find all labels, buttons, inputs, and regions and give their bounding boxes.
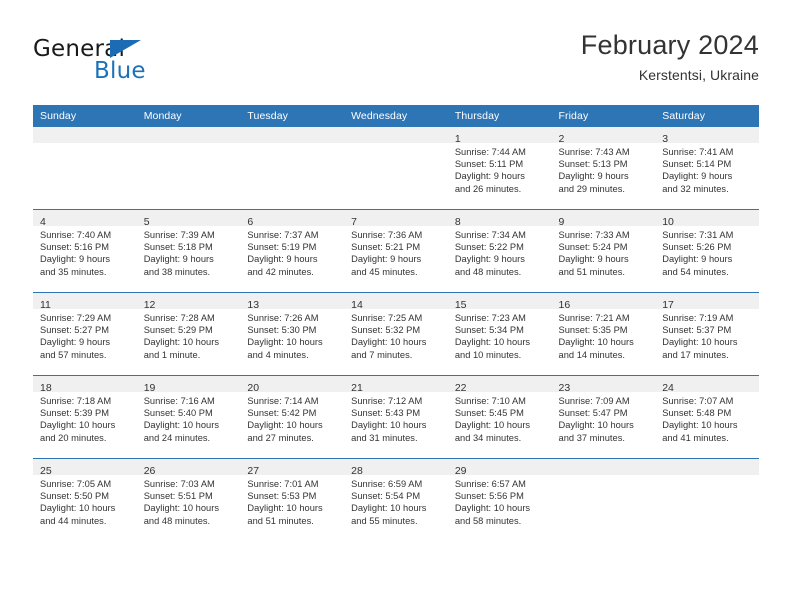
sunset-text: Sunset: 5:27 PM [40, 324, 133, 336]
daylight-text-line2: and 44 minutes. [40, 515, 133, 527]
day-sun-info: Sunrise: 7:31 AMSunset: 5:26 PMDaylight:… [655, 226, 759, 278]
day-box: 23Sunrise: 7:09 AMSunset: 5:47 PMDayligh… [552, 376, 656, 458]
day-number: 22 [455, 382, 467, 394]
sunset-text: Sunset: 5:26 PM [662, 241, 755, 253]
calendar-day-cell[interactable]: 16Sunrise: 7:21 AMSunset: 5:35 PMDayligh… [552, 293, 656, 376]
calendar-day-cell[interactable]: 9Sunrise: 7:33 AMSunset: 5:24 PMDaylight… [552, 210, 656, 293]
sunset-text: Sunset: 5:40 PM [144, 407, 237, 419]
sunrise-text: Sunrise: 6:59 AM [351, 478, 444, 490]
daylight-text-line2: and 41 minutes. [662, 432, 755, 444]
day-number: 10 [662, 216, 674, 228]
sunrise-text: Sunrise: 7:28 AM [144, 312, 237, 324]
sunset-text: Sunset: 5:18 PM [144, 241, 237, 253]
day-box: 10Sunrise: 7:31 AMSunset: 5:26 PMDayligh… [655, 210, 759, 292]
sunrise-text: Sunrise: 7:43 AM [559, 146, 652, 158]
day-box: 4Sunrise: 7:40 AMSunset: 5:16 PMDaylight… [33, 210, 137, 292]
sunset-text: Sunset: 5:37 PM [662, 324, 755, 336]
sunset-text: Sunset: 5:53 PM [247, 490, 340, 502]
sunset-text: Sunset: 5:21 PM [351, 241, 444, 253]
sunset-text: Sunset: 5:16 PM [40, 241, 133, 253]
calendar-day-cell-empty [552, 459, 656, 542]
sunrise-text: Sunrise: 7:23 AM [455, 312, 548, 324]
day-number-band [552, 459, 656, 475]
day-number-band: 29 [448, 459, 552, 475]
sunrise-text: Sunrise: 7:33 AM [559, 229, 652, 241]
weekday-header-thursday: Thursday [448, 105, 552, 127]
day-box: 1Sunrise: 7:44 AMSunset: 5:11 PMDaylight… [448, 127, 552, 209]
daylight-text-line1: Daylight: 9 hours [662, 170, 755, 182]
sunrise-text: Sunrise: 6:57 AM [455, 478, 548, 490]
day-number-band [344, 127, 448, 143]
sunrise-text: Sunrise: 7:03 AM [144, 478, 237, 490]
sunrise-text: Sunrise: 7:18 AM [40, 395, 133, 407]
calendar-day-cell[interactable]: 28Sunrise: 6:59 AMSunset: 5:54 PMDayligh… [344, 459, 448, 542]
daylight-text-line1: Daylight: 10 hours [40, 419, 133, 431]
day-box: 29Sunrise: 6:57 AMSunset: 5:56 PMDayligh… [448, 459, 552, 541]
day-sun-info: Sunrise: 7:21 AMSunset: 5:35 PMDaylight:… [552, 309, 656, 361]
sunrise-text: Sunrise: 7:44 AM [455, 146, 548, 158]
daylight-text-line2: and 10 minutes. [455, 349, 548, 361]
daylight-text-line2: and 48 minutes. [455, 266, 548, 278]
weekday-header-saturday: Saturday [655, 105, 759, 127]
sunset-text: Sunset: 5:50 PM [40, 490, 133, 502]
day-sun-info: Sunrise: 7:43 AMSunset: 5:13 PMDaylight:… [552, 143, 656, 195]
daylight-text-line1: Daylight: 9 hours [351, 253, 444, 265]
day-box [655, 459, 759, 541]
calendar-table: SundayMondayTuesdayWednesdayThursdayFrid… [33, 105, 759, 541]
day-number-band: 25 [33, 459, 137, 475]
daylight-text-line1: Daylight: 10 hours [662, 336, 755, 348]
daylight-text-line1: Daylight: 9 hours [559, 253, 652, 265]
page-header: General Blue February 2024 Kerstentsi, U… [33, 28, 759, 94]
daylight-text-line1: Daylight: 10 hours [144, 336, 237, 348]
day-box: 27Sunrise: 7:01 AMSunset: 5:53 PMDayligh… [240, 459, 344, 541]
day-number: 19 [144, 382, 156, 394]
day-sun-info: Sunrise: 7:36 AMSunset: 5:21 PMDaylight:… [344, 226, 448, 278]
calendar-week-row: 4Sunrise: 7:40 AMSunset: 5:16 PMDaylight… [33, 210, 759, 293]
calendar-day-cell-empty [240, 127, 344, 210]
day-number-band [137, 127, 241, 143]
sunset-text: Sunset: 5:48 PM [662, 407, 755, 419]
day-number-band: 7 [344, 210, 448, 226]
day-box: 3Sunrise: 7:41 AMSunset: 5:14 PMDaylight… [655, 127, 759, 209]
daylight-text-line1: Daylight: 10 hours [144, 502, 237, 514]
daylight-text-line1: Daylight: 9 hours [40, 253, 133, 265]
page-title: February 2024 [581, 28, 759, 62]
day-number-band: 10 [655, 210, 759, 226]
day-number: 13 [247, 299, 259, 311]
sunset-text: Sunset: 5:47 PM [559, 407, 652, 419]
day-box: 6Sunrise: 7:37 AMSunset: 5:19 PMDaylight… [240, 210, 344, 292]
day-number: 18 [40, 382, 52, 394]
day-box [344, 127, 448, 209]
day-number-band: 14 [344, 293, 448, 309]
sunset-text: Sunset: 5:14 PM [662, 158, 755, 170]
calendar-page: General Blue February 2024 Kerstentsi, U… [0, 0, 792, 612]
calendar-day-cell[interactable]: 4Sunrise: 7:40 AMSunset: 5:16 PMDaylight… [33, 210, 137, 293]
day-sun-info: Sunrise: 7:18 AMSunset: 5:39 PMDaylight:… [33, 392, 137, 444]
daylight-text-line2: and 26 minutes. [455, 183, 548, 195]
day-number: 26 [144, 465, 156, 477]
day-number-band [240, 127, 344, 143]
daylight-text-line1: Daylight: 10 hours [144, 419, 237, 431]
day-number-band [33, 127, 137, 143]
day-sun-info: Sunrise: 6:57 AMSunset: 5:56 PMDaylight:… [448, 475, 552, 527]
calendar-day-cell[interactable]: 26Sunrise: 7:03 AMSunset: 5:51 PMDayligh… [137, 459, 241, 542]
daylight-text-line2: and 35 minutes. [40, 266, 133, 278]
calendar-day-cell[interactable]: 2Sunrise: 7:43 AMSunset: 5:13 PMDaylight… [552, 127, 656, 210]
day-number-band: 15 [448, 293, 552, 309]
day-sun-info: Sunrise: 7:39 AMSunset: 5:18 PMDaylight:… [137, 226, 241, 278]
day-sun-info: Sunrise: 7:12 AMSunset: 5:43 PMDaylight:… [344, 392, 448, 444]
sunset-text: Sunset: 5:19 PM [247, 241, 340, 253]
day-box: 8Sunrise: 7:34 AMSunset: 5:22 PMDaylight… [448, 210, 552, 292]
calendar-day-cell[interactable]: 27Sunrise: 7:01 AMSunset: 5:53 PMDayligh… [240, 459, 344, 542]
daylight-text-line1: Daylight: 10 hours [455, 336, 548, 348]
calendar-day-cell[interactable]: 5Sunrise: 7:39 AMSunset: 5:18 PMDaylight… [137, 210, 241, 293]
day-number: 14 [351, 299, 363, 311]
calendar-day-cell-empty [344, 127, 448, 210]
day-number: 2 [559, 133, 565, 145]
calendar-day-cell[interactable]: 13Sunrise: 7:26 AMSunset: 5:30 PMDayligh… [240, 293, 344, 376]
day-number: 8 [455, 216, 461, 228]
calendar-day-cell[interactable]: 17Sunrise: 7:19 AMSunset: 5:37 PMDayligh… [655, 293, 759, 376]
calendar-day-cell[interactable]: 11Sunrise: 7:29 AMSunset: 5:27 PMDayligh… [33, 293, 137, 376]
sunset-text: Sunset: 5:24 PM [559, 241, 652, 253]
day-sun-info: Sunrise: 6:59 AMSunset: 5:54 PMDaylight:… [344, 475, 448, 527]
day-sun-info: Sunrise: 7:44 AMSunset: 5:11 PMDaylight:… [448, 143, 552, 195]
calendar-day-cell-empty [655, 459, 759, 542]
day-number-band [655, 459, 759, 475]
sunset-text: Sunset: 5:32 PM [351, 324, 444, 336]
sunrise-text: Sunrise: 7:21 AM [559, 312, 652, 324]
calendar-day-cell[interactable]: 18Sunrise: 7:18 AMSunset: 5:39 PMDayligh… [33, 376, 137, 459]
daylight-text-line1: Daylight: 9 hours [559, 170, 652, 182]
calendar-week-row: 25Sunrise: 7:05 AMSunset: 5:50 PMDayligh… [33, 459, 759, 542]
sunrise-text: Sunrise: 7:31 AM [662, 229, 755, 241]
calendar-day-cell[interactable]: 25Sunrise: 7:05 AMSunset: 5:50 PMDayligh… [33, 459, 137, 542]
daylight-text-line2: and 27 minutes. [247, 432, 340, 444]
calendar-day-cell[interactable]: 21Sunrise: 7:12 AMSunset: 5:43 PMDayligh… [344, 376, 448, 459]
day-box: 12Sunrise: 7:28 AMSunset: 5:29 PMDayligh… [137, 293, 241, 375]
calendar-day-cell-empty [33, 127, 137, 210]
daylight-text-line1: Daylight: 9 hours [247, 253, 340, 265]
sunset-text: Sunset: 5:43 PM [351, 407, 444, 419]
day-number-band: 18 [33, 376, 137, 392]
daylight-text-line1: Daylight: 10 hours [247, 502, 340, 514]
sunset-text: Sunset: 5:54 PM [351, 490, 444, 502]
calendar-day-cell[interactable]: 29Sunrise: 6:57 AMSunset: 5:56 PMDayligh… [448, 459, 552, 542]
day-box: 14Sunrise: 7:25 AMSunset: 5:32 PMDayligh… [344, 293, 448, 375]
day-number-band: 20 [240, 376, 344, 392]
day-number-band: 2 [552, 127, 656, 143]
day-sun-info: Sunrise: 7:09 AMSunset: 5:47 PMDaylight:… [552, 392, 656, 444]
daylight-text-line1: Daylight: 10 hours [351, 502, 444, 514]
daylight-text-line2: and 48 minutes. [144, 515, 237, 527]
sunset-text: Sunset: 5:11 PM [455, 158, 548, 170]
day-sun-info: Sunrise: 7:19 AMSunset: 5:37 PMDaylight:… [655, 309, 759, 361]
day-box: 15Sunrise: 7:23 AMSunset: 5:34 PMDayligh… [448, 293, 552, 375]
day-box: 13Sunrise: 7:26 AMSunset: 5:30 PMDayligh… [240, 293, 344, 375]
day-number-band: 4 [33, 210, 137, 226]
sunset-text: Sunset: 5:22 PM [455, 241, 548, 253]
daylight-text-line1: Daylight: 10 hours [559, 336, 652, 348]
day-box [137, 127, 241, 209]
sunrise-text: Sunrise: 7:05 AM [40, 478, 133, 490]
calendar-day-cell[interactable]: 22Sunrise: 7:10 AMSunset: 5:45 PMDayligh… [448, 376, 552, 459]
day-box: 18Sunrise: 7:18 AMSunset: 5:39 PMDayligh… [33, 376, 137, 458]
day-sun-info: Sunrise: 7:07 AMSunset: 5:48 PMDaylight:… [655, 392, 759, 444]
day-sun-info: Sunrise: 7:14 AMSunset: 5:42 PMDaylight:… [240, 392, 344, 444]
sunrise-text: Sunrise: 7:01 AM [247, 478, 340, 490]
calendar-day-cell[interactable]: 19Sunrise: 7:16 AMSunset: 5:40 PMDayligh… [137, 376, 241, 459]
title-block: February 2024 Kerstentsi, Ukraine [581, 28, 759, 86]
day-number: 1 [455, 133, 461, 145]
day-box: 16Sunrise: 7:21 AMSunset: 5:35 PMDayligh… [552, 293, 656, 375]
day-sun-info: Sunrise: 7:16 AMSunset: 5:40 PMDaylight:… [137, 392, 241, 444]
day-box: 11Sunrise: 7:29 AMSunset: 5:27 PMDayligh… [33, 293, 137, 375]
sunset-text: Sunset: 5:34 PM [455, 324, 548, 336]
day-sun-info: Sunrise: 7:34 AMSunset: 5:22 PMDaylight:… [448, 226, 552, 278]
daylight-text-line2: and 58 minutes. [455, 515, 548, 527]
weekday-header-sunday: Sunday [33, 105, 137, 127]
calendar-day-cell[interactable]: 3Sunrise: 7:41 AMSunset: 5:14 PMDaylight… [655, 127, 759, 210]
day-number-band: 23 [552, 376, 656, 392]
day-number-band: 8 [448, 210, 552, 226]
calendar-day-cell[interactable]: 6Sunrise: 7:37 AMSunset: 5:19 PMDaylight… [240, 210, 344, 293]
daylight-text-line1: Daylight: 10 hours [351, 419, 444, 431]
day-box [33, 127, 137, 209]
day-box: 2Sunrise: 7:43 AMSunset: 5:13 PMDaylight… [552, 127, 656, 209]
daylight-text-line2: and 32 minutes. [662, 183, 755, 195]
day-number-band: 16 [552, 293, 656, 309]
sunrise-text: Sunrise: 7:40 AM [40, 229, 133, 241]
daylight-text-line2: and 38 minutes. [144, 266, 237, 278]
day-box [552, 459, 656, 541]
sunrise-text: Sunrise: 7:09 AM [559, 395, 652, 407]
page-subtitle-location: Kerstentsi, Ukraine [581, 64, 759, 86]
daylight-text-line2: and 17 minutes. [662, 349, 755, 361]
day-number: 24 [662, 382, 674, 394]
day-number: 11 [40, 299, 51, 311]
day-number-band: 6 [240, 210, 344, 226]
sunrise-text: Sunrise: 7:37 AM [247, 229, 340, 241]
logo-text-blue: Blue [94, 58, 146, 84]
daylight-text-line1: Daylight: 9 hours [40, 336, 133, 348]
day-number-band: 26 [137, 459, 241, 475]
daylight-text-line2: and 51 minutes. [559, 266, 652, 278]
daylight-text-line1: Daylight: 9 hours [662, 253, 755, 265]
day-number-band: 17 [655, 293, 759, 309]
weekday-header-wednesday: Wednesday [344, 105, 448, 127]
daylight-text-line1: Daylight: 9 hours [144, 253, 237, 265]
calendar-day-cell[interactable]: 1Sunrise: 7:44 AMSunset: 5:11 PMDaylight… [448, 127, 552, 210]
calendar-day-cell[interactable]: 10Sunrise: 7:31 AMSunset: 5:26 PMDayligh… [655, 210, 759, 293]
day-box: 21Sunrise: 7:12 AMSunset: 5:43 PMDayligh… [344, 376, 448, 458]
daylight-text-line1: Daylight: 10 hours [247, 336, 340, 348]
sunrise-text: Sunrise: 7:41 AM [662, 146, 755, 158]
sunrise-text: Sunrise: 7:26 AM [247, 312, 340, 324]
day-number-band: 3 [655, 127, 759, 143]
daylight-text-line1: Daylight: 10 hours [455, 502, 548, 514]
day-number-band: 1 [448, 127, 552, 143]
calendar-day-cell[interactable]: 14Sunrise: 7:25 AMSunset: 5:32 PMDayligh… [344, 293, 448, 376]
sunset-text: Sunset: 5:39 PM [40, 407, 133, 419]
day-number-band: 24 [655, 376, 759, 392]
sunset-text: Sunset: 5:51 PM [144, 490, 237, 502]
day-number-band: 22 [448, 376, 552, 392]
day-sun-info: Sunrise: 7:29 AMSunset: 5:27 PMDaylight:… [33, 309, 137, 361]
sunrise-text: Sunrise: 7:19 AM [662, 312, 755, 324]
day-number: 5 [144, 216, 150, 228]
day-number-band: 21 [344, 376, 448, 392]
day-number: 6 [247, 216, 253, 228]
daylight-text-line2: and 14 minutes. [559, 349, 652, 361]
day-number-band: 12 [137, 293, 241, 309]
day-sun-info: Sunrise: 7:05 AMSunset: 5:50 PMDaylight:… [33, 475, 137, 527]
daylight-text-line2: and 57 minutes. [40, 349, 133, 361]
day-sun-info: Sunrise: 7:41 AMSunset: 5:14 PMDaylight:… [655, 143, 759, 195]
day-number: 27 [247, 465, 259, 477]
day-box: 9Sunrise: 7:33 AMSunset: 5:24 PMDaylight… [552, 210, 656, 292]
daylight-text-line1: Daylight: 10 hours [351, 336, 444, 348]
day-number: 9 [559, 216, 565, 228]
sunrise-text: Sunrise: 7:36 AM [351, 229, 444, 241]
weekday-header-monday: Monday [137, 105, 241, 127]
day-sun-info: Sunrise: 7:28 AMSunset: 5:29 PMDaylight:… [137, 309, 241, 361]
day-number: 28 [351, 465, 363, 477]
day-number-band: 13 [240, 293, 344, 309]
calendar-week-row: 1Sunrise: 7:44 AMSunset: 5:11 PMDaylight… [33, 127, 759, 210]
daylight-text-line2: and 37 minutes. [559, 432, 652, 444]
day-sun-info: Sunrise: 7:01 AMSunset: 5:53 PMDaylight:… [240, 475, 344, 527]
day-box: 22Sunrise: 7:10 AMSunset: 5:45 PMDayligh… [448, 376, 552, 458]
day-sun-info: Sunrise: 7:25 AMSunset: 5:32 PMDaylight:… [344, 309, 448, 361]
sunset-text: Sunset: 5:35 PM [559, 324, 652, 336]
sunset-text: Sunset: 5:56 PM [455, 490, 548, 502]
day-box: 7Sunrise: 7:36 AMSunset: 5:21 PMDaylight… [344, 210, 448, 292]
calendar-week-row: 18Sunrise: 7:18 AMSunset: 5:39 PMDayligh… [33, 376, 759, 459]
weekday-header-tuesday: Tuesday [240, 105, 344, 127]
sunrise-text: Sunrise: 7:07 AM [662, 395, 755, 407]
day-number: 21 [351, 382, 363, 394]
sunset-text: Sunset: 5:29 PM [144, 324, 237, 336]
day-number-band: 9 [552, 210, 656, 226]
daylight-text-line2: and 51 minutes. [247, 515, 340, 527]
calendar-day-cell[interactable]: 23Sunrise: 7:09 AMSunset: 5:47 PMDayligh… [552, 376, 656, 459]
calendar-week-row: 11Sunrise: 7:29 AMSunset: 5:27 PMDayligh… [33, 293, 759, 376]
calendar-day-cell[interactable]: 12Sunrise: 7:28 AMSunset: 5:29 PMDayligh… [137, 293, 241, 376]
sunset-text: Sunset: 5:30 PM [247, 324, 340, 336]
calendar-day-cell[interactable]: 7Sunrise: 7:36 AMSunset: 5:21 PMDaylight… [344, 210, 448, 293]
daylight-text-line2: and 20 minutes. [40, 432, 133, 444]
weekday-header-friday: Friday [552, 105, 656, 127]
daylight-text-line2: and 24 minutes. [144, 432, 237, 444]
day-sun-info: Sunrise: 7:37 AMSunset: 5:19 PMDaylight:… [240, 226, 344, 278]
day-box: 28Sunrise: 6:59 AMSunset: 5:54 PMDayligh… [344, 459, 448, 541]
daylight-text-line1: Daylight: 10 hours [662, 419, 755, 431]
calendar-day-cell[interactable]: 20Sunrise: 7:14 AMSunset: 5:42 PMDayligh… [240, 376, 344, 459]
daylight-text-line2: and 34 minutes. [455, 432, 548, 444]
day-number: 20 [247, 382, 259, 394]
day-sun-info: Sunrise: 7:03 AMSunset: 5:51 PMDaylight:… [137, 475, 241, 527]
calendar-day-cell[interactable]: 24Sunrise: 7:07 AMSunset: 5:48 PMDayligh… [655, 376, 759, 459]
day-number: 12 [144, 299, 156, 311]
sunset-text: Sunset: 5:13 PM [559, 158, 652, 170]
calendar-day-cell-empty [137, 127, 241, 210]
daylight-text-line2: and 54 minutes. [662, 266, 755, 278]
sunrise-text: Sunrise: 7:10 AM [455, 395, 548, 407]
day-box: 19Sunrise: 7:16 AMSunset: 5:40 PMDayligh… [137, 376, 241, 458]
day-number: 16 [559, 299, 571, 311]
calendar-day-cell[interactable]: 8Sunrise: 7:34 AMSunset: 5:22 PMDaylight… [448, 210, 552, 293]
day-number: 17 [662, 299, 674, 311]
sunrise-text: Sunrise: 7:34 AM [455, 229, 548, 241]
daylight-text-line2: and 45 minutes. [351, 266, 444, 278]
day-number: 29 [455, 465, 467, 477]
day-number: 15 [455, 299, 467, 311]
day-number-band: 27 [240, 459, 344, 475]
day-number: 25 [40, 465, 52, 477]
daylight-text-line2: and 55 minutes. [351, 515, 444, 527]
daylight-text-line1: Daylight: 10 hours [455, 419, 548, 431]
day-sun-info: Sunrise: 7:40 AMSunset: 5:16 PMDaylight:… [33, 226, 137, 278]
day-box: 26Sunrise: 7:03 AMSunset: 5:51 PMDayligh… [137, 459, 241, 541]
sunrise-text: Sunrise: 7:29 AM [40, 312, 133, 324]
daylight-text-line1: Daylight: 10 hours [40, 502, 133, 514]
day-number-band: 5 [137, 210, 241, 226]
day-number-band: 28 [344, 459, 448, 475]
calendar-header-row: SundayMondayTuesdayWednesdayThursdayFrid… [33, 105, 759, 127]
day-box: 25Sunrise: 7:05 AMSunset: 5:50 PMDayligh… [33, 459, 137, 541]
general-blue-logo[interactable]: General Blue [33, 36, 253, 92]
day-number: 4 [40, 216, 46, 228]
day-number-band: 19 [137, 376, 241, 392]
logo-triangle-icon [110, 40, 141, 58]
day-sun-info: Sunrise: 7:10 AMSunset: 5:45 PMDaylight:… [448, 392, 552, 444]
day-sun-info: Sunrise: 7:33 AMSunset: 5:24 PMDaylight:… [552, 226, 656, 278]
sunrise-text: Sunrise: 7:39 AM [144, 229, 237, 241]
daylight-text-line1: Daylight: 9 hours [455, 253, 548, 265]
sunset-text: Sunset: 5:45 PM [455, 407, 548, 419]
calendar-body: 1Sunrise: 7:44 AMSunset: 5:11 PMDaylight… [33, 127, 759, 541]
day-sun-info: Sunrise: 7:23 AMSunset: 5:34 PMDaylight:… [448, 309, 552, 361]
daylight-text-line2: and 29 minutes. [559, 183, 652, 195]
sunset-text: Sunset: 5:42 PM [247, 407, 340, 419]
daylight-text-line2: and 1 minute. [144, 349, 237, 361]
day-number-band: 11 [33, 293, 137, 309]
daylight-text-line1: Daylight: 10 hours [559, 419, 652, 431]
sunrise-text: Sunrise: 7:14 AM [247, 395, 340, 407]
day-box [240, 127, 344, 209]
day-box: 17Sunrise: 7:19 AMSunset: 5:37 PMDayligh… [655, 293, 759, 375]
sunrise-text: Sunrise: 7:12 AM [351, 395, 444, 407]
day-number: 3 [662, 133, 668, 145]
day-number: 23 [559, 382, 571, 394]
sunrise-text: Sunrise: 7:16 AM [144, 395, 237, 407]
daylight-text-line1: Daylight: 10 hours [247, 419, 340, 431]
day-number: 7 [351, 216, 357, 228]
day-box: 20Sunrise: 7:14 AMSunset: 5:42 PMDayligh… [240, 376, 344, 458]
calendar-day-cell[interactable]: 15Sunrise: 7:23 AMSunset: 5:34 PMDayligh… [448, 293, 552, 376]
day-sun-info: Sunrise: 7:26 AMSunset: 5:30 PMDaylight:… [240, 309, 344, 361]
daylight-text-line2: and 42 minutes. [247, 266, 340, 278]
daylight-text-line2: and 7 minutes. [351, 349, 444, 361]
day-box: 24Sunrise: 7:07 AMSunset: 5:48 PMDayligh… [655, 376, 759, 458]
daylight-text-line1: Daylight: 9 hours [455, 170, 548, 182]
daylight-text-line2: and 31 minutes. [351, 432, 444, 444]
daylight-text-line2: and 4 minutes. [247, 349, 340, 361]
